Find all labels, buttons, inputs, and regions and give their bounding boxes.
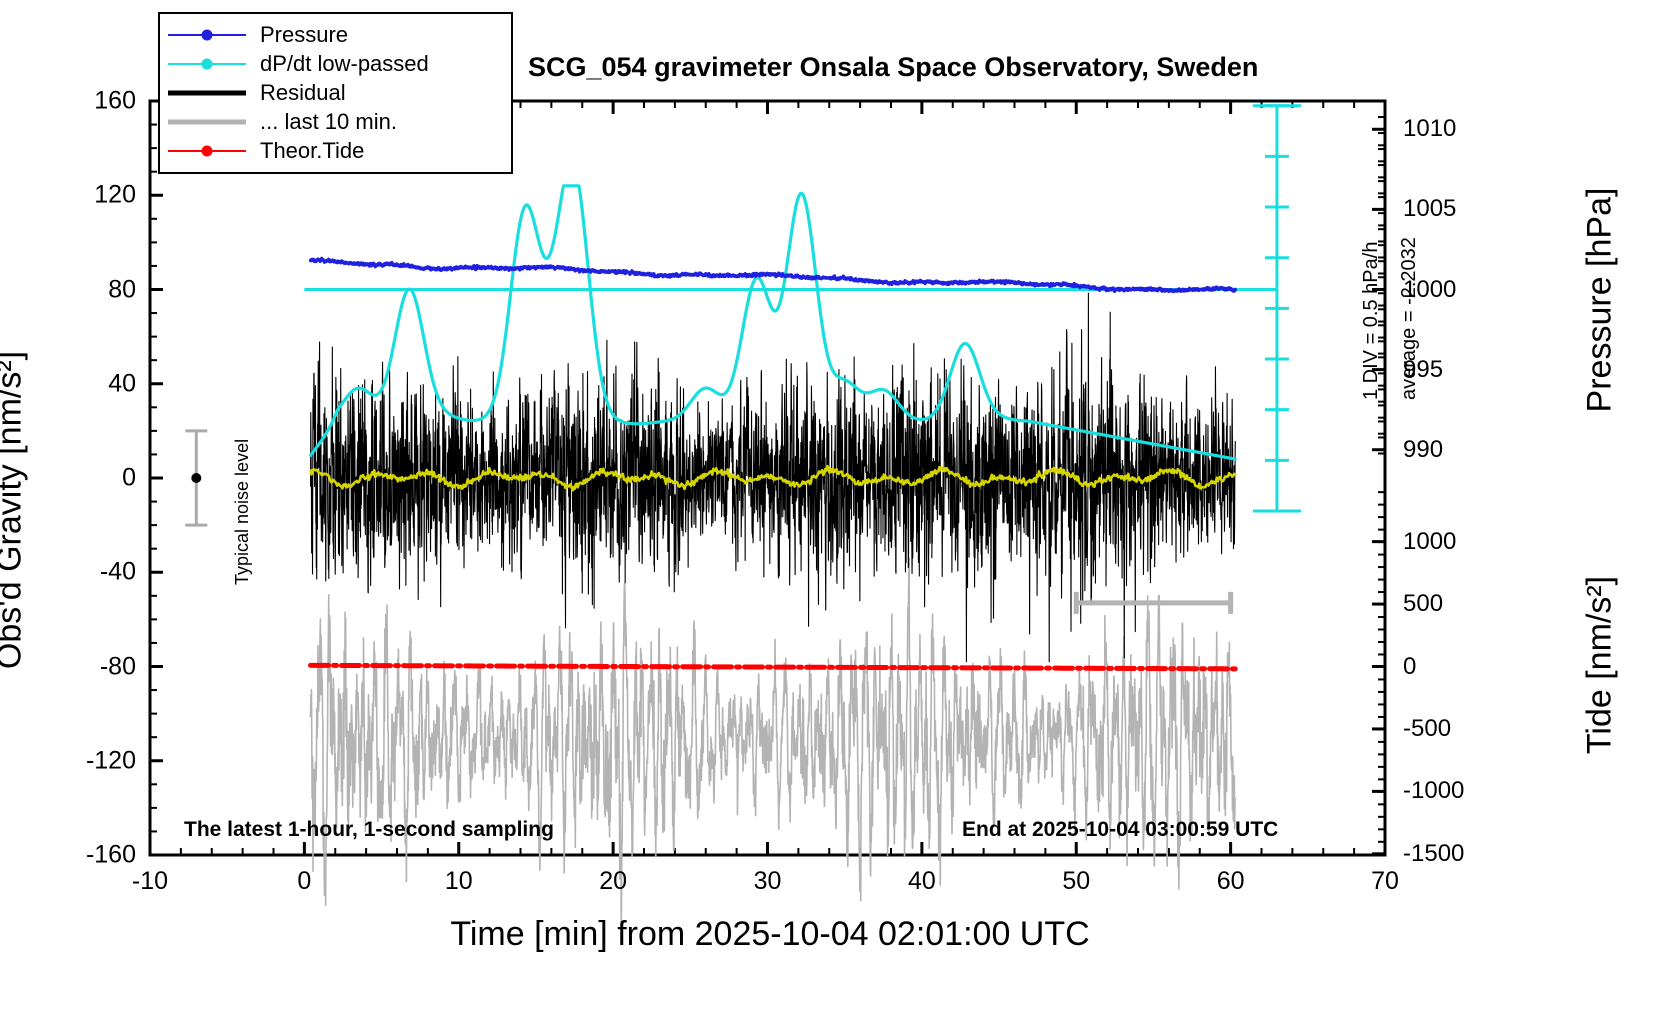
bottom-right-annotation: End at 2025-10-04 03:00:59 UTC: [962, 818, 1278, 842]
scale-div-annotation: 1 DIV = 0.5 hPa/h: [1360, 242, 1383, 400]
bottom-tick-label: 30: [754, 867, 782, 896]
y-axis-label-pressure: Pressure [hPa]: [1581, 188, 1620, 413]
bottom-left-annotation: The latest 1-hour, 1-second sampling: [184, 818, 554, 842]
left-tick-label: 80: [108, 275, 136, 304]
legend-item-0[interactable]: Pressure: [168, 20, 503, 49]
average-annotation: average = -2.2032: [1398, 237, 1421, 400]
legend-label: Pressure: [246, 22, 348, 48]
legend: PressuredP/dt low-passedResidual... last…: [158, 12, 513, 174]
gravimeter-plot: SCG_054 gravimeter Onsala Space Observat…: [0, 0, 1660, 1020]
tide-tick-label: 1000: [1403, 528, 1456, 556]
legend-swatch-icon: [168, 83, 246, 103]
pressure-tick-label: 990: [1403, 436, 1443, 464]
left-tick-label: -160: [86, 841, 136, 870]
noise-level-annotation: Typical noise level: [232, 439, 253, 585]
left-tick-label: 120: [94, 181, 136, 210]
tide-tick-label: -500: [1403, 715, 1451, 743]
tide-tick-label: -1000: [1403, 777, 1464, 805]
bottom-tick-label: 50: [1062, 867, 1090, 896]
legend-item-2[interactable]: Residual: [168, 78, 503, 107]
bottom-tick-label: 70: [1371, 867, 1399, 896]
legend-label: Theor.Tide: [246, 138, 364, 164]
left-tick-label: 0: [122, 464, 136, 493]
tide-tick-label: 0: [1403, 653, 1416, 681]
pressure-tick-label: 1010: [1403, 115, 1456, 143]
x-axis-label: Time [min] from 2025-10-04 02:01:00 UTC: [450, 915, 1089, 954]
bottom-tick-label: 40: [908, 867, 936, 896]
tide-tick-label: 500: [1403, 590, 1443, 618]
bottom-tick-label: 0: [297, 867, 311, 896]
legend-label: ... last 10 min.: [246, 109, 397, 135]
legend-swatch-icon: [168, 54, 246, 74]
legend-item-3[interactable]: ... last 10 min.: [168, 107, 503, 136]
legend-swatch-icon: [168, 112, 246, 132]
left-tick-label: -40: [100, 558, 136, 587]
bottom-tick-label: 60: [1217, 867, 1245, 896]
y-axis-label-left: Obs'd Gravity [nm/s²]: [0, 351, 30, 669]
legend-swatch-icon: [168, 141, 246, 161]
bottom-tick-label: -10: [132, 867, 168, 896]
left-tick-label: 160: [94, 87, 136, 116]
tide-tick-label: -1500: [1403, 840, 1464, 868]
pressure-tick-label: 1005: [1403, 195, 1456, 223]
left-tick-label: -80: [100, 652, 136, 681]
legend-label: Residual: [246, 80, 346, 106]
legend-item-1[interactable]: dP/dt low-passed: [168, 49, 503, 78]
bottom-tick-label: 10: [445, 867, 473, 896]
bottom-tick-label: 20: [599, 867, 627, 896]
legend-item-4[interactable]: Theor.Tide: [168, 136, 503, 165]
legend-swatch-icon: [168, 25, 246, 45]
legend-label: dP/dt low-passed: [246, 51, 429, 77]
y-axis-label-tide: Tide [nm/s²]: [1581, 576, 1620, 754]
left-tick-label: 40: [108, 369, 136, 398]
left-tick-label: -120: [86, 746, 136, 775]
